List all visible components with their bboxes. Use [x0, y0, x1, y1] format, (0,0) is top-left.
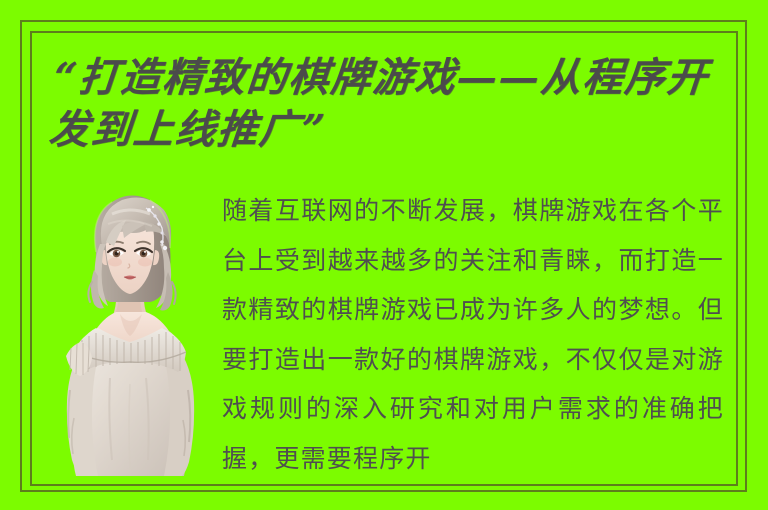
poster-canvas: “打造精致的棋牌游戏——从程序开发到上线推广” — [0, 0, 768, 510]
poster-title: “打造精致的棋牌游戏——从程序开发到上线推广” — [47, 52, 716, 156]
illustration-anime-girl — [50, 186, 210, 476]
anime-girl-svg — [50, 186, 210, 476]
poster-body-text: 随着互联网的不断发展，棋牌游戏在各个平台上受到越来越多的关注和青睐，而打造一款精… — [222, 186, 724, 483]
